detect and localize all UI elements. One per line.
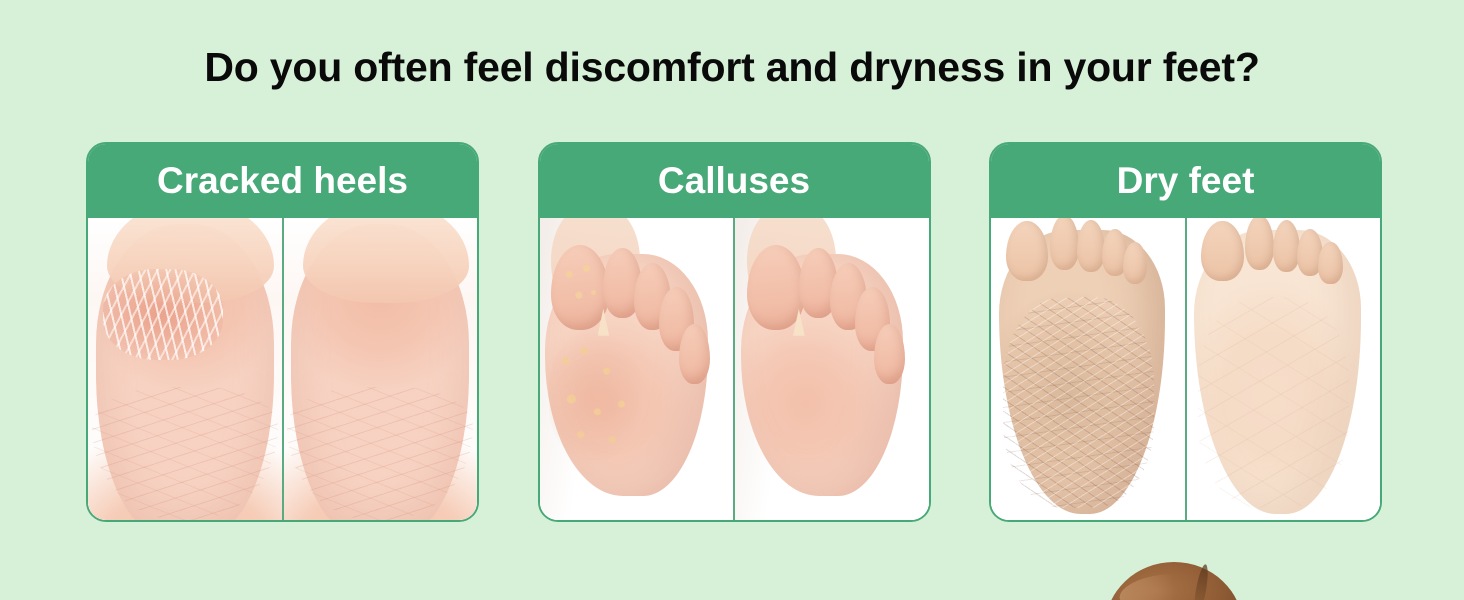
card-header-dry-feet: Dry feet: [989, 142, 1382, 218]
image-before-callused-forefoot: before-callused-forefoot: [540, 218, 734, 520]
card-images-cracked-heels: before-cracked-heel after-smooth-heel: [88, 218, 477, 520]
card-title-calluses: Calluses: [658, 162, 810, 199]
card-title-dry-feet: Dry feet: [1117, 162, 1255, 199]
card-images-calluses: before-callused-forefoot after-sm: [540, 218, 929, 520]
sole-photo-before: [991, 218, 1185, 520]
image-after-hydrated-sole: after-hydrated-sole: [1185, 218, 1381, 520]
condition-card-dry-feet[interactable]: Dry feet: [989, 142, 1382, 522]
image-before-cracked-heel: before-cracked-heel: [88, 218, 282, 520]
model-head-image: [1105, 562, 1243, 600]
sole-photo-after: [1187, 218, 1381, 520]
forefoot-photo-before: [540, 218, 734, 520]
card-header-calluses: Calluses: [538, 142, 931, 218]
card-images-dry-feet: before-dry-cracked-sole: [991, 218, 1380, 520]
card-header-cracked-heels: Cracked heels: [86, 142, 479, 218]
heel-photo-after: [284, 218, 478, 520]
heel-photo-before: [88, 218, 282, 520]
forefoot-photo-after: [735, 218, 929, 520]
condition-card-list: Cracked heels before-cracked-heel: [86, 142, 1382, 522]
condition-card-calluses[interactable]: Calluses: [538, 142, 931, 522]
image-after-smooth-forefoot: after-smooth-forefoot: [733, 218, 929, 520]
promo-banner: Do you often feel discomfort and dryness…: [0, 0, 1464, 600]
image-after-smooth-heel: after-smooth-heel: [282, 218, 478, 520]
page-title: Do you often feel discomfort and dryness…: [0, 44, 1464, 91]
card-title-cracked-heels: Cracked heels: [157, 162, 408, 199]
condition-card-cracked-heels[interactable]: Cracked heels before-cracked-heel: [86, 142, 479, 522]
image-before-dry-sole: before-dry-cracked-sole: [991, 218, 1185, 520]
